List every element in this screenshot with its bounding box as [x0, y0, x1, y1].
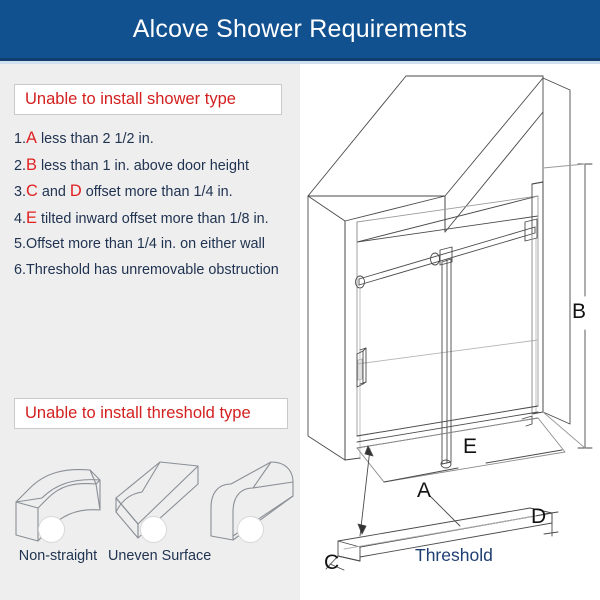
req-text: tilted inward offset more than 1/8 in. [37, 211, 269, 227]
dimension-label-a: A [417, 479, 431, 503]
threshold-shape-label: Uneven Surface [108, 548, 208, 564]
req-letter-2: D [70, 182, 82, 200]
list-item: 1.A less than 2 1/2 in. [14, 126, 294, 153]
req-number: 5. [14, 236, 26, 252]
threshold-shape-row: Non-straight Uneven Surface [0, 440, 300, 600]
req-text-2: offset more than 1/4 in. [82, 184, 233, 200]
shower-diagram: A B C D E Threshold [300, 64, 600, 600]
dimension-label-b: B [572, 300, 586, 324]
req-number: 1. [14, 131, 26, 147]
req-letter: C [26, 182, 38, 200]
dimension-label-d: D [531, 505, 546, 529]
list-item: 4.E tilted inward offset more than 1/8 i… [14, 206, 294, 233]
threshold-shape-label: Non-straight [8, 548, 108, 564]
threshold-shape-uneven-surface: Uneven Surface [108, 440, 208, 600]
shower-line-drawing [300, 64, 600, 600]
threshold-type-callout-box: Unable to install threshold type [14, 398, 288, 429]
req-letter: A [26, 129, 37, 147]
req-letter: B [26, 156, 37, 174]
req-text: less than 1 in. above door height [37, 158, 249, 174]
x-mark-badge [140, 516, 167, 543]
threshold-shape-rounded [205, 440, 305, 600]
req-text: and [38, 184, 70, 200]
list-item: 6.Threshold has unremovable obstruction [14, 258, 294, 284]
page-title: Alcove Shower Requirements [133, 15, 468, 44]
threshold-type-callout-label: Unable to install threshold type [25, 404, 251, 423]
dimension-label-c: C [324, 551, 339, 575]
shower-type-callout-label: Unable to install shower type [25, 90, 236, 109]
req-number: 2. [14, 158, 26, 174]
req-text: Offset more than 1/4 in. on either wall [26, 236, 265, 252]
x-mark-badge [237, 516, 264, 543]
dimension-label-e: E [463, 435, 477, 459]
shower-type-callout-box: Unable to install shower type [14, 84, 282, 115]
req-number: 6. [14, 262, 26, 278]
alcove-shower-requirements-page: Alcove Shower Requirements Unable to ins… [0, 0, 600, 600]
req-text: Threshold has unremovable obstruction [26, 262, 279, 278]
requirements-list: 1.A less than 2 1/2 in. 2.B less than 1 … [14, 126, 294, 283]
list-item: 5.Offset more than 1/4 in. on either wal… [14, 232, 294, 258]
threshold-shape-non-straight: Non-straight [8, 440, 108, 600]
list-item: 3.C and D offset more than 1/4 in. [14, 179, 294, 206]
req-number: 3. [14, 184, 26, 200]
threshold-caption: Threshold [415, 545, 493, 566]
req-number: 4. [14, 211, 26, 227]
page-header: Alcove Shower Requirements [0, 0, 600, 58]
req-letter: E [26, 209, 37, 227]
x-mark-badge [38, 516, 65, 543]
req-text: less than 2 1/2 in. [37, 131, 154, 147]
list-item: 2.B less than 1 in. above door height [14, 153, 294, 180]
